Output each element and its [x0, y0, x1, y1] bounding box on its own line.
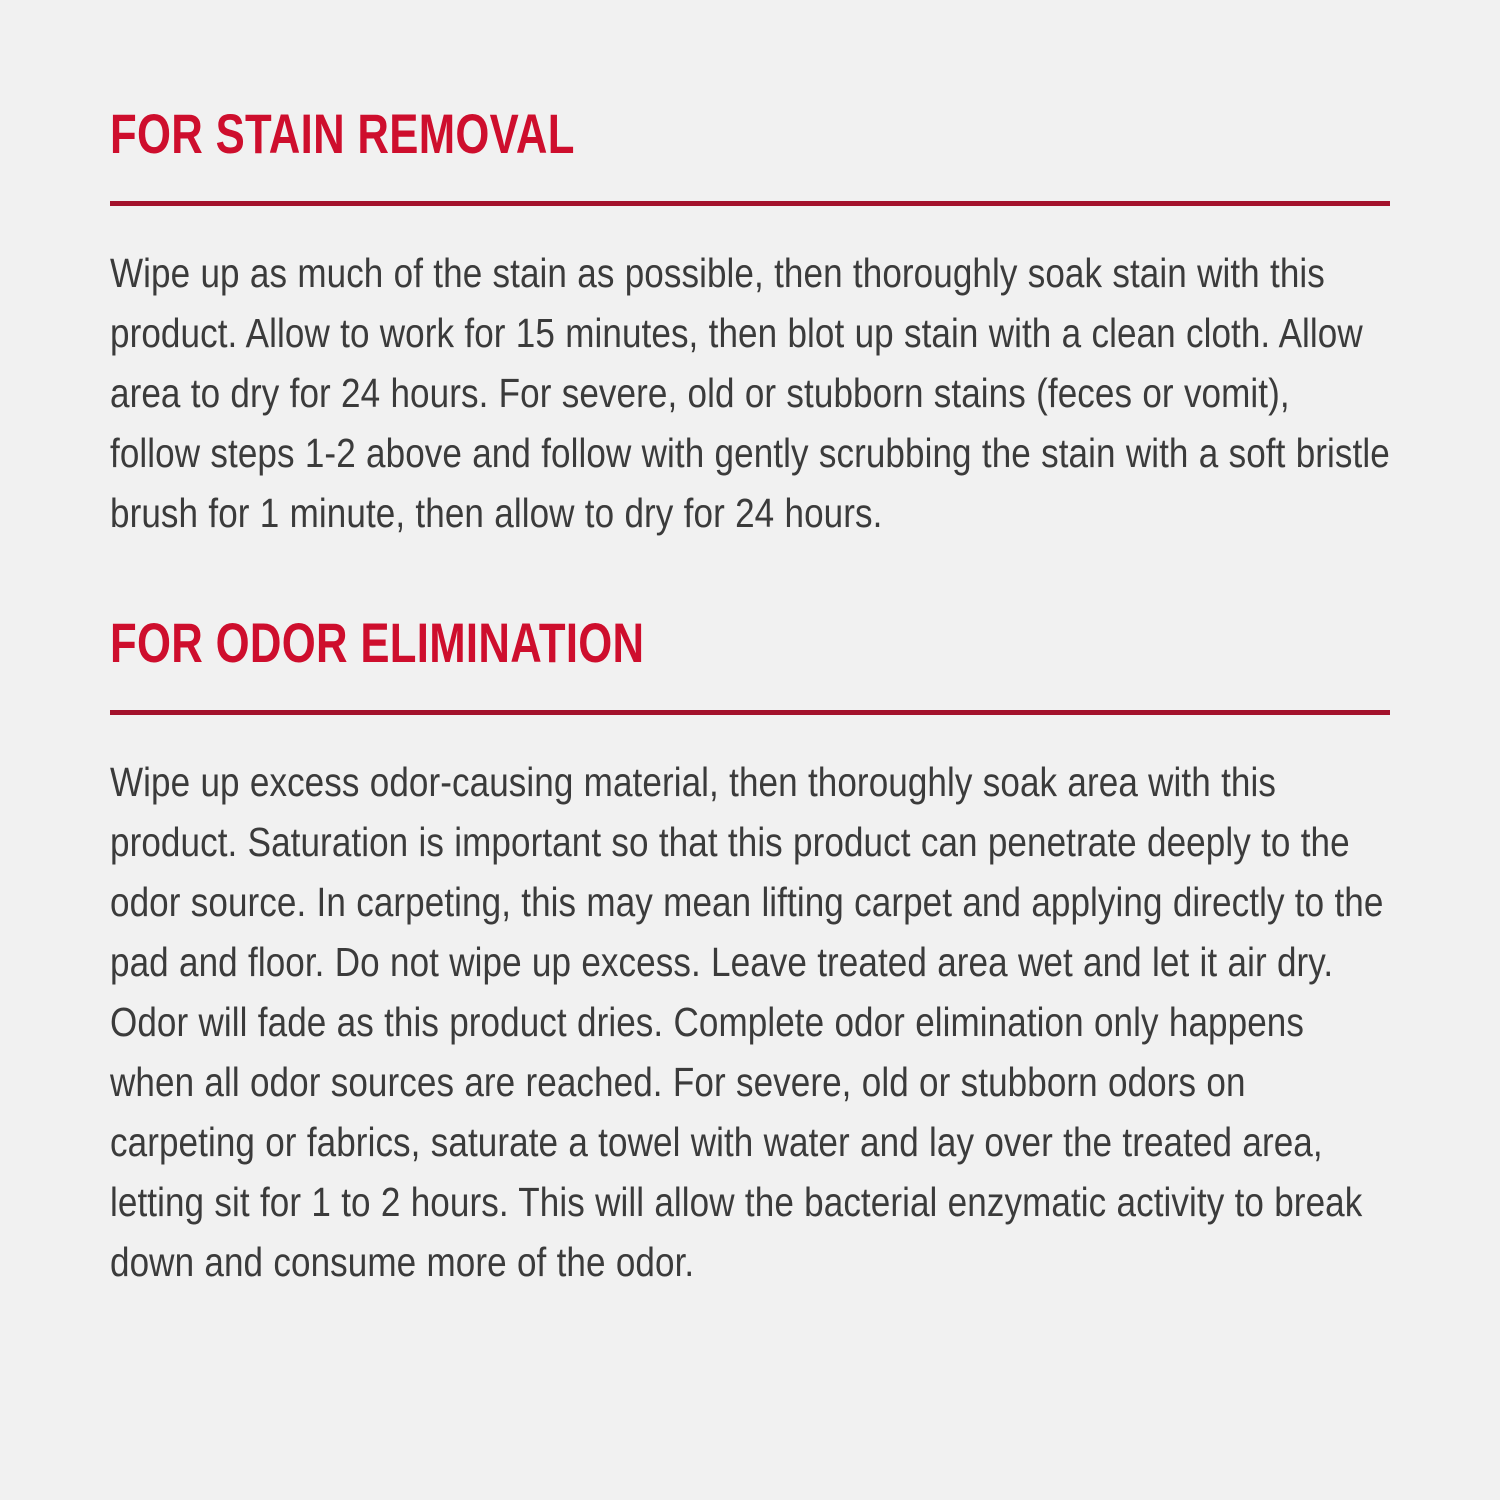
- instructions-page: FOR STAIN REMOVAL Wipe up as much of the…: [0, 0, 1500, 1500]
- section-body-stain-removal: Wipe up as much of the stain as possible…: [110, 206, 1390, 543]
- section-odor-elimination: FOR ODOR ELIMINATION Wipe up excess odor…: [110, 543, 1390, 1292]
- section-heading-odor-elimination: FOR ODOR ELIMINATION: [110, 615, 1108, 671]
- section-heading-stain-removal: FOR STAIN REMOVAL: [110, 106, 1108, 162]
- section-stain-removal: FOR STAIN REMOVAL Wipe up as much of the…: [110, 0, 1390, 543]
- section-body-odor-elimination: Wipe up excess odor-causing material, th…: [110, 715, 1390, 1292]
